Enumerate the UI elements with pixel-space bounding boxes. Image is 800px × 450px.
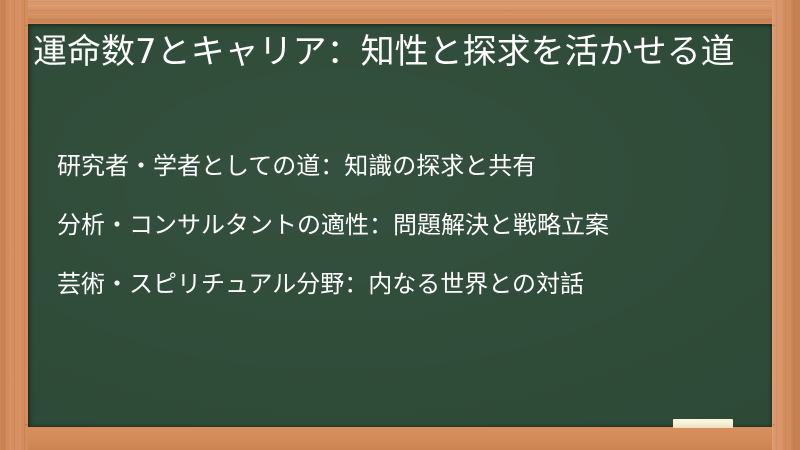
chalkboard-slide: 運命数7とキャリア：知性と探求を活かせる道 研究者・学者としての道：知識の探求と…: [0, 0, 800, 450]
frame-rail-top: [0, 0, 800, 24]
frame-miter-bottom-left: [0, 424, 30, 450]
chalkboard-surface: 運命数7とキャリア：知性と探求を活かせる道 研究者・学者としての道：知識の探求と…: [28, 24, 772, 427]
list-item: 分析・コンサルタントの適性：問題解決と戦略立案: [57, 209, 747, 242]
list-item: 研究者・学者としての道：知識の探求と共有: [57, 150, 747, 183]
frame-rail-right: [772, 0, 800, 450]
chalk-stick: [673, 419, 733, 428]
frame-miter-top-right: [770, 0, 800, 26]
frame-rail-left: [0, 0, 28, 450]
list-item: 芸術・スピリチュアル分野：内なる世界との対話: [57, 268, 747, 301]
slide-title: 運命数7とキャリア：知性と探求を活かせる道: [33, 29, 743, 75]
frame-miter-bottom-right: [770, 424, 800, 450]
bullet-list: 研究者・学者としての道：知識の探求と共有 分析・コンサルタントの適性：問題解決と…: [57, 150, 747, 301]
frame-ledge-bottom: [0, 427, 800, 450]
frame-miter-top-left: [0, 0, 30, 26]
